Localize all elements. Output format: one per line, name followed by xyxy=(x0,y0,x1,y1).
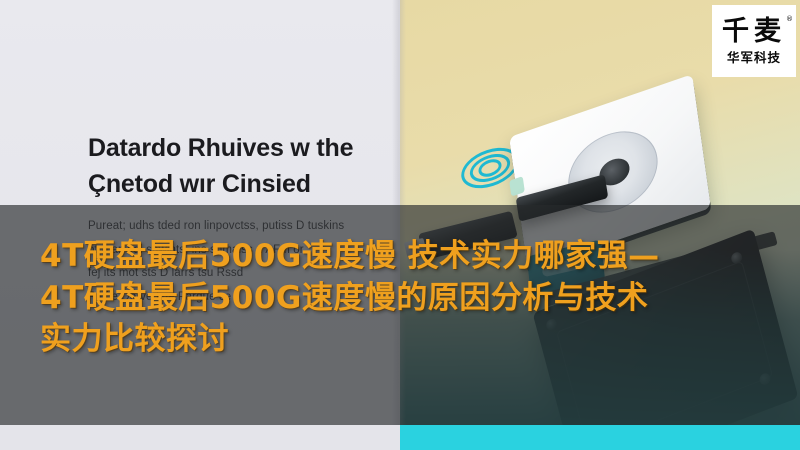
banner-image: Datardo Rhuives w the Çnetod wır Cinsie… xyxy=(0,0,800,450)
document-heading: Datardo Rhuives w the Çnetod wır Cinsie… xyxy=(88,131,388,202)
document-heading-line-2: Çnetod wır Cinsied xyxy=(88,167,388,203)
registered-mark-icon: ® xyxy=(786,16,793,23)
brand-logo-main: 千麦 ® xyxy=(722,18,786,45)
brand-logo: 千麦 ® 华军科技 xyxy=(712,5,796,77)
document-heading-line-1: Datardo Rhuives w the xyxy=(88,131,388,167)
headline-title: 4T硬盘最后500G速度慢 技术实力哪家强—4T硬盘最后500G速度慢的原因分析… xyxy=(40,236,665,361)
bottom-light-strip xyxy=(0,425,400,450)
drive-tab xyxy=(509,176,525,196)
brand-logo-sub: 华军科技 xyxy=(727,52,781,65)
bottom-cyan-bar xyxy=(400,425,800,450)
brand-logo-main-text: 千麦 xyxy=(722,16,786,47)
